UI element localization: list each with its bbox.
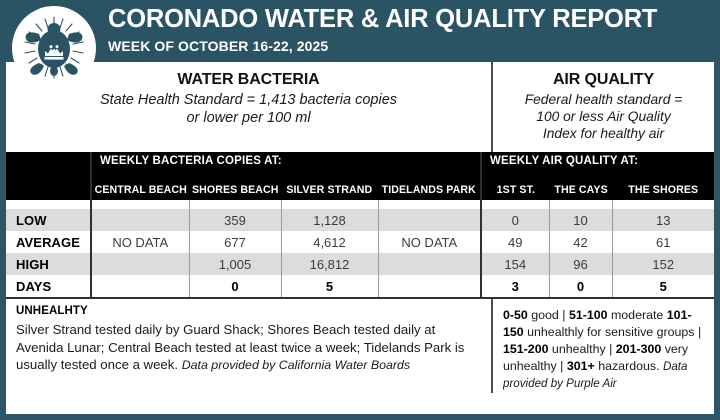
water-footnote-text: Silver Strand tested daily by Guard Shac… [16, 321, 481, 374]
spacer-cell [189, 200, 281, 209]
cell-low-first-st: 0 [481, 209, 549, 231]
cell-average-tidelands-park: NO DATA [378, 231, 481, 253]
air-group-header-cell: WEEKLY AIR QUALITY AT: 1ST ST. THE CAYS … [481, 152, 714, 200]
cell-low-central-beach [91, 209, 189, 231]
water-standard-line2: or lower per 100 ml [6, 110, 491, 128]
cell-low-tidelands-park [378, 209, 481, 231]
table-row: HIGH 1,005 16,812 154 96 152 [6, 253, 714, 275]
row-label-average: AVERAGE [6, 231, 91, 253]
air-standard-line3: Index for healthy air [499, 126, 708, 143]
water-standard-text: State Health Standard = 1,413 bacteria c… [6, 92, 491, 127]
legend-label-good: good | [528, 308, 569, 322]
cell-days-silver-strand: 5 [281, 275, 378, 297]
cell-days-the-shores: 5 [612, 275, 714, 297]
aqi-legend: 0-50 good | 51-100 moderate 101-150 unhe… [503, 307, 706, 393]
col-central-beach: CENTRAL BEACH [92, 185, 190, 196]
col-the-shores: THE SHORES [612, 185, 714, 196]
cell-high-shores-beach: 1,005 [189, 253, 281, 275]
spacer-cell [612, 200, 714, 209]
legend-range-0-50: 0-50 [503, 308, 528, 322]
cell-high-silver-strand: 16,812 [281, 253, 378, 275]
standards-band: WATER BACTERIA State Health Standard = 1… [6, 62, 714, 152]
table-row: DAYS 0 5 3 0 5 [6, 275, 714, 297]
cell-high-central-beach [91, 253, 189, 275]
col-silver-strand: SILVER STRAND [281, 185, 378, 196]
col-first-st: 1ST ST. [482, 185, 550, 196]
coronado-turtle-crown-logo [12, 6, 96, 90]
col-tidelands-park: TIDELANDS PARK [378, 185, 480, 196]
header-corner-cell [6, 152, 91, 200]
cell-low-the-cays: 10 [549, 209, 612, 231]
cell-low-the-shores: 13 [612, 209, 714, 231]
report-footnotes: UNHEALHTY Silver Strand tested daily by … [6, 297, 714, 393]
cell-average-silver-strand: 4,612 [281, 231, 378, 253]
spacer-cell [6, 200, 91, 209]
legend-range-151-200: 151-200 [503, 342, 548, 356]
air-legend-block: 0-50 good | 51-100 moderate 101-150 unhe… [491, 299, 714, 393]
unhealthy-heading: UNHEALHTY [16, 305, 481, 317]
spacer-cell [378, 200, 481, 209]
legend-label-unhealthy: unhealthy | [548, 342, 615, 356]
legend-range-51-100: 51-100 [569, 308, 608, 322]
legend-range-201-300: 201-300 [616, 342, 661, 356]
row-label-days: DAYS [6, 275, 91, 297]
cell-days-shores-beach: 0 [189, 275, 281, 297]
cell-average-shores-beach: 677 [189, 231, 281, 253]
col-the-cays: THE CAYS [550, 185, 613, 196]
cell-days-tidelands-park [378, 275, 481, 297]
air-standard-line1: Federal health standard = [499, 92, 708, 109]
spacer-cell [549, 200, 612, 209]
report-header: CORONADO WATER & AIR QUALITY REPORT WEEK… [0, 0, 720, 62]
table-header-row: WEEKLY BACTERIA COPIES AT: CENTRAL BEACH… [6, 152, 714, 200]
page-subtitle: WEEK OF OCTOBER 16-22, 2025 [108, 39, 657, 53]
water-footnote-block: UNHEALHTY Silver Strand tested daily by … [6, 299, 491, 393]
cell-high-the-shores: 152 [612, 253, 714, 275]
cell-high-first-st: 154 [481, 253, 549, 275]
cell-high-the-cays: 96 [549, 253, 612, 275]
cell-days-first-st: 3 [481, 275, 549, 297]
row-label-high: HIGH [6, 253, 91, 275]
table-row: AVERAGE NO DATA 677 4,612 NO DATA 49 42 … [6, 231, 714, 253]
water-group-header-cell: WEEKLY BACTERIA COPIES AT: CENTRAL BEACH… [91, 152, 481, 200]
cell-average-first-st: 49 [481, 231, 549, 253]
legend-label-moderate: moderate [608, 308, 664, 322]
air-group-header: WEEKLY AIR QUALITY AT: [482, 156, 714, 176]
water-air-quality-report: CORONADO WATER & AIR QUALITY REPORT WEEK… [0, 0, 720, 420]
legend-label-hazardous: hazardous. [595, 359, 663, 373]
air-section-title: AIR QUALITY [493, 71, 714, 89]
water-footnote-source: Data provided by California Water Boards [182, 358, 410, 372]
legend-label-sensitive: unhealthly for sensitive groups | [524, 325, 701, 339]
report-body: WATER BACTERIA State Health Standard = 1… [6, 62, 714, 414]
cell-high-tidelands-park [378, 253, 481, 275]
cell-days-the-cays: 0 [549, 275, 612, 297]
cell-average-central-beach: NO DATA [91, 231, 189, 253]
table-spacer-row [6, 200, 714, 209]
cell-low-silver-strand: 1,128 [281, 209, 378, 231]
row-label-low: LOW [6, 209, 91, 231]
water-standard-line1: State Health Standard = 1,413 bacteria c… [6, 92, 491, 110]
quality-data-table: WEEKLY BACTERIA COPIES AT: CENTRAL BEACH… [6, 152, 714, 297]
water-group-header: WEEKLY BACTERIA COPIES AT: [92, 156, 480, 176]
cell-low-shores-beach: 359 [189, 209, 281, 231]
page-title: CORONADO WATER & AIR QUALITY REPORT [108, 7, 657, 33]
spacer-cell [281, 200, 378, 209]
table-row: LOW 359 1,128 0 10 13 [6, 209, 714, 231]
cell-average-the-cays: 42 [549, 231, 612, 253]
header-title-block: CORONADO WATER & AIR QUALITY REPORT WEEK… [108, 7, 657, 56]
cell-average-the-shores: 61 [612, 231, 714, 253]
spacer-cell [481, 200, 549, 209]
air-standard-block: AIR QUALITY Federal health standard = 10… [491, 62, 714, 152]
cell-days-central-beach [91, 275, 189, 297]
air-standard-text: Federal health standard = 100 or less Ai… [493, 92, 714, 142]
spacer-cell [91, 200, 189, 209]
legend-range-301-plus: 301+ [567, 359, 595, 373]
air-standard-line2: 100 or less Air Quality [499, 109, 708, 126]
col-shores-beach: SHORES BEACH [190, 185, 282, 196]
